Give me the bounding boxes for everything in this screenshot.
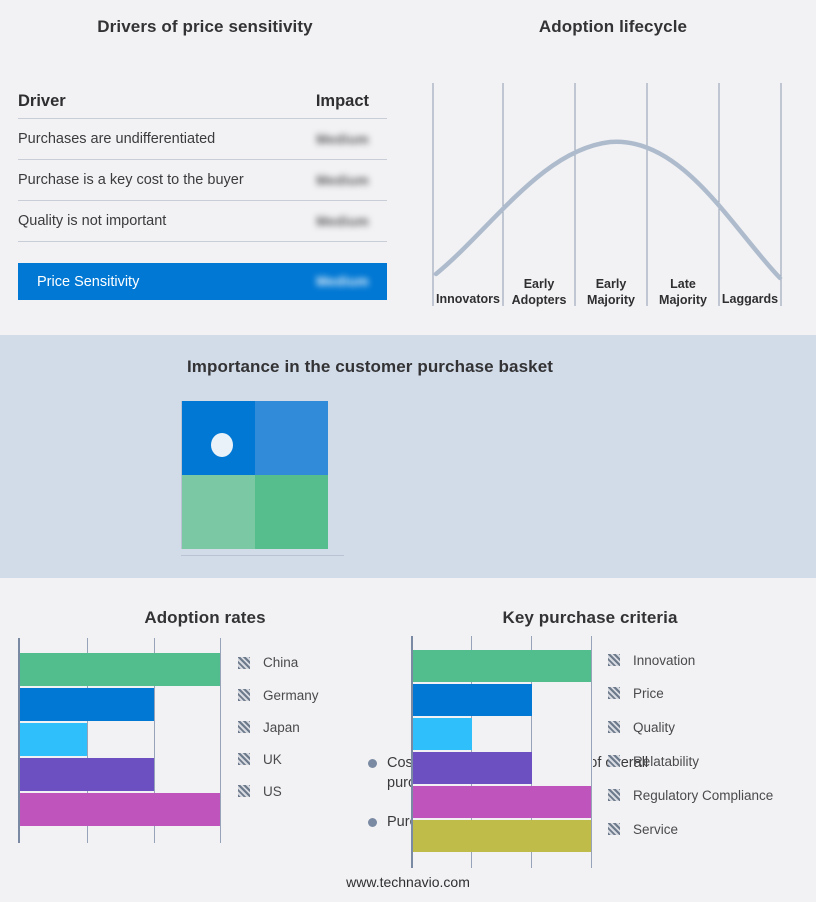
- legend-item[interactable]: Quality: [608, 710, 773, 744]
- bar-uk[interactable]: [20, 758, 154, 791]
- hatch-swatch-icon: [608, 755, 620, 767]
- hatch-swatch-icon: [238, 657, 250, 669]
- drivers-table: Driver Impact Purchases are undifferenti…: [18, 92, 387, 300]
- legend-label: UK: [263, 752, 282, 767]
- lifecycle-stage-labels: Innovators Early Adopters Early Majority…: [432, 266, 792, 310]
- driver-label: Purchase is a key cost to the buyer: [18, 172, 244, 188]
- table-row[interactable]: Purchases are undifferentiated Medium: [18, 119, 387, 160]
- stage-label-early-majority: Early Majority: [575, 276, 647, 308]
- driver-label: Purchases are undifferentiated: [18, 131, 215, 147]
- bar-innovation[interactable]: [413, 650, 591, 682]
- table-header: Driver Impact: [18, 92, 387, 119]
- legend-item[interactable]: Japan: [238, 711, 319, 743]
- hatch-swatch-icon: [608, 721, 620, 733]
- gridline: [220, 638, 221, 843]
- basket-title: Importance in the customer purchase bask…: [0, 357, 740, 377]
- impact-value: Medium: [316, 214, 369, 229]
- table-row[interactable]: Quality is not important Medium: [18, 201, 387, 242]
- bar-germany[interactable]: [20, 688, 154, 721]
- quadrant-bottom-left: [182, 475, 255, 549]
- bar-quality[interactable]: [413, 718, 472, 750]
- legend-label: Regulatory Compliance: [633, 788, 773, 803]
- hatch-swatch-icon: [238, 689, 250, 701]
- stage-label-laggards: Laggards: [719, 292, 781, 306]
- key-purchase-criteria-title: Key purchase criteria: [400, 608, 780, 628]
- legend-label: Germany: [263, 688, 319, 703]
- legend-item[interactable]: Innovation: [608, 644, 773, 676]
- table-row[interactable]: Purchase is a key cost to the buyer Medi…: [18, 160, 387, 201]
- bar-regulatory-compliance[interactable]: [413, 786, 591, 818]
- legend-item[interactable]: US: [238, 775, 319, 807]
- bar-relatability[interactable]: [413, 752, 532, 784]
- lifecycle-chart: Innovators Early Adopters Early Majority…: [432, 78, 792, 310]
- driver-label: Price Sensitivity: [37, 274, 139, 290]
- adoption-rates-panel: Adoption rates China Germany: [0, 578, 410, 902]
- legend-item[interactable]: Price: [608, 676, 773, 710]
- legend-label: Innovation: [633, 653, 695, 668]
- stage-label-late-majority: Late Majority: [647, 276, 719, 308]
- stage-label-early-adopters: Early Adopters: [503, 276, 575, 308]
- key-purchase-criteria-chart: [411, 636, 593, 868]
- bar-price[interactable]: [413, 684, 532, 716]
- bar-japan[interactable]: [20, 723, 87, 756]
- column-header-driver: Driver: [18, 92, 66, 111]
- drivers-panel: Drivers of price sensitivity Driver Impa…: [0, 0, 410, 335]
- quadrant-top-right: [255, 401, 328, 475]
- legend-item[interactable]: China: [238, 646, 319, 679]
- price-sensitivity-row[interactable]: Price Sensitivity Medium: [18, 263, 387, 300]
- hatch-swatch-icon: [608, 687, 620, 699]
- adoption-rates-title: Adoption rates: [0, 608, 410, 628]
- bar-china[interactable]: [20, 653, 220, 686]
- bar-us[interactable]: [20, 793, 220, 826]
- hatch-swatch-icon: [608, 789, 620, 801]
- adoption-rates-legend: China Germany Japan UK US: [238, 646, 319, 807]
- bar-service[interactable]: [413, 820, 591, 852]
- adoption-rates-chart: [18, 638, 222, 843]
- gridline: [591, 636, 592, 868]
- lifecycle-title: Adoption lifecycle: [410, 17, 816, 37]
- legend-label: Relatability: [633, 754, 699, 769]
- infographic-page: Drivers of price sensitivity Driver Impa…: [0, 0, 816, 902]
- hatch-swatch-icon: [608, 823, 620, 835]
- hatch-swatch-icon: [608, 654, 620, 666]
- impact-value: Medium: [316, 173, 369, 188]
- impact-value: Medium: [316, 274, 369, 289]
- stage-label-innovators: Innovators: [433, 292, 503, 306]
- legend-item[interactable]: Germany: [238, 679, 319, 711]
- legend-label: US: [263, 784, 282, 799]
- key-purchase-criteria-legend: Innovation Price Quality Relatability Re…: [608, 644, 773, 846]
- driver-label: Quality is not important: [18, 213, 166, 229]
- column-header-impact: Impact: [316, 92, 369, 111]
- adoption-lifecycle-panel: Adoption lifecycle Innovators Early Adop…: [410, 0, 816, 335]
- quadrant-chart: [181, 401, 328, 549]
- quadrant-grid: [181, 401, 328, 549]
- adoption-curve: [436, 142, 780, 278]
- drivers-title: Drivers of price sensitivity: [0, 17, 410, 37]
- footer-url[interactable]: www.technavio.com: [0, 874, 816, 890]
- hatch-swatch-icon: [238, 753, 250, 765]
- purchase-basket-panel: Importance in the customer purchase bask…: [0, 335, 816, 578]
- legend-label: Price: [633, 686, 664, 701]
- data-point-dot: [211, 433, 233, 457]
- legend-label: Quality: [633, 720, 675, 735]
- legend-item[interactable]: UK: [238, 743, 319, 775]
- impact-value: Medium: [316, 132, 369, 147]
- legend-item[interactable]: Regulatory Compliance: [608, 778, 773, 812]
- legend-label: China: [263, 655, 298, 670]
- key-purchase-criteria-panel: Key purchase criteria Innovation Price: [400, 578, 816, 902]
- legend-label: Service: [633, 822, 678, 837]
- quadrant-bottom-right: [255, 475, 328, 549]
- hatch-swatch-icon: [238, 785, 250, 797]
- hatch-swatch-icon: [238, 721, 250, 733]
- legend-label: Japan: [263, 720, 300, 735]
- legend-item[interactable]: Relatability: [608, 744, 773, 778]
- legend-item[interactable]: Service: [608, 812, 773, 846]
